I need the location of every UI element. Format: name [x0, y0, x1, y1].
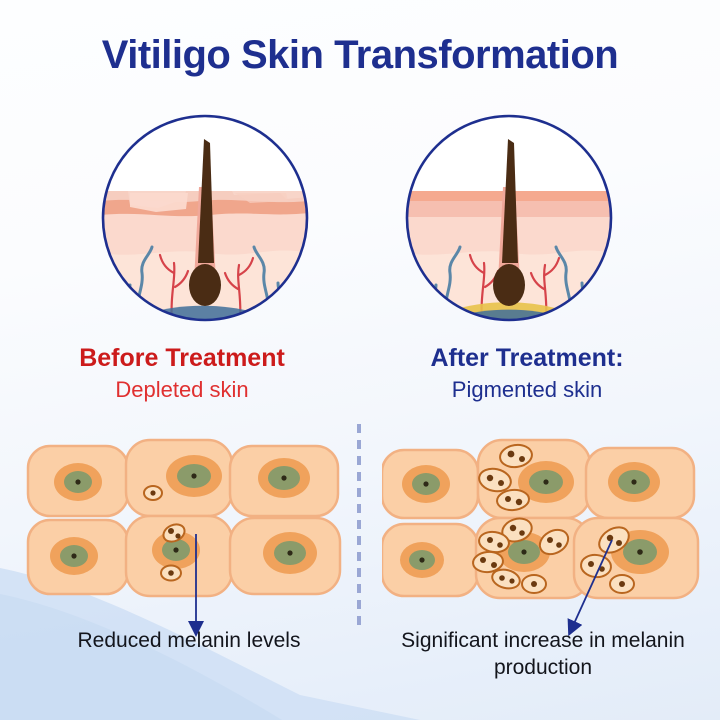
cell-cluster-after	[382, 438, 712, 603]
page-title: Vitiligo Skin Transformation	[0, 33, 720, 78]
caption-increased-melanin: Significant increase in melanin producti…	[378, 628, 708, 682]
melanocytes-depleted-icon	[22, 438, 352, 603]
infographic-canvas: Vitiligo Skin Transformation	[0, 0, 720, 720]
skin-diagram-before	[100, 113, 310, 323]
stage-label-before: Before Treatment Depleted skin	[17, 344, 347, 402]
stage-label-after: After Treatment: Pigmented skin	[362, 344, 692, 402]
melanocytes-pigmented-icon	[382, 438, 712, 603]
stage-title-after: After Treatment:	[362, 344, 692, 373]
stage-title-before: Before Treatment	[17, 344, 347, 373]
cell-cluster-before	[22, 438, 352, 603]
stage-subtitle-before: Depleted skin	[17, 377, 347, 402]
skin-diagram-after	[404, 113, 614, 323]
skin-cross-section-depleted-icon	[100, 113, 310, 323]
panel-divider	[357, 424, 361, 632]
skin-cross-section-pigmented-icon	[404, 113, 614, 323]
stage-subtitle-after: Pigmented skin	[362, 377, 692, 402]
caption-reduced-melanin: Reduced melanin levels	[24, 628, 354, 655]
